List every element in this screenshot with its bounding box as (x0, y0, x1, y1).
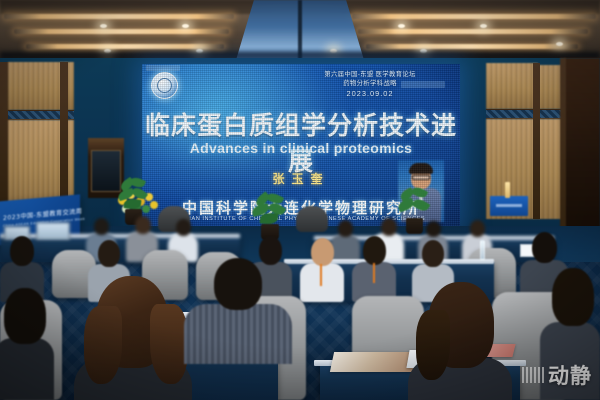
right-wall-column (533, 63, 540, 219)
candle-light (505, 182, 510, 198)
right-doorway (564, 58, 600, 228)
right-door-frame (560, 58, 566, 228)
attendee-near-left-edge (0, 288, 54, 400)
attendee-near-woman-long-hair (66, 276, 196, 400)
ceiling (0, 0, 600, 60)
left-wall-divider (60, 62, 68, 208)
water-bottle-1 (480, 240, 485, 260)
stage-chair-right (296, 206, 328, 232)
conference-hall-photo: 第六届中国-东盟 医学教育论坛 药物分析学科战略 2023.09.02 临床蛋白… (0, 0, 600, 400)
watermark-bars-icon (522, 367, 544, 383)
right-wall-wood-panel-upper (486, 63, 538, 109)
watermark: 动静 (522, 360, 592, 390)
attendee-mid-4 (300, 238, 344, 302)
attendee-mid-5 (352, 236, 396, 302)
stage-plant-center (252, 194, 286, 242)
attendee-near-striped-shirt (184, 258, 292, 364)
right-wall-decor-band (486, 109, 564, 119)
wall-blue-sign (490, 196, 528, 216)
attendee-near-woman-right (404, 282, 516, 400)
podium-monitor (91, 150, 121, 192)
watermark-text: 动静 (548, 360, 592, 390)
